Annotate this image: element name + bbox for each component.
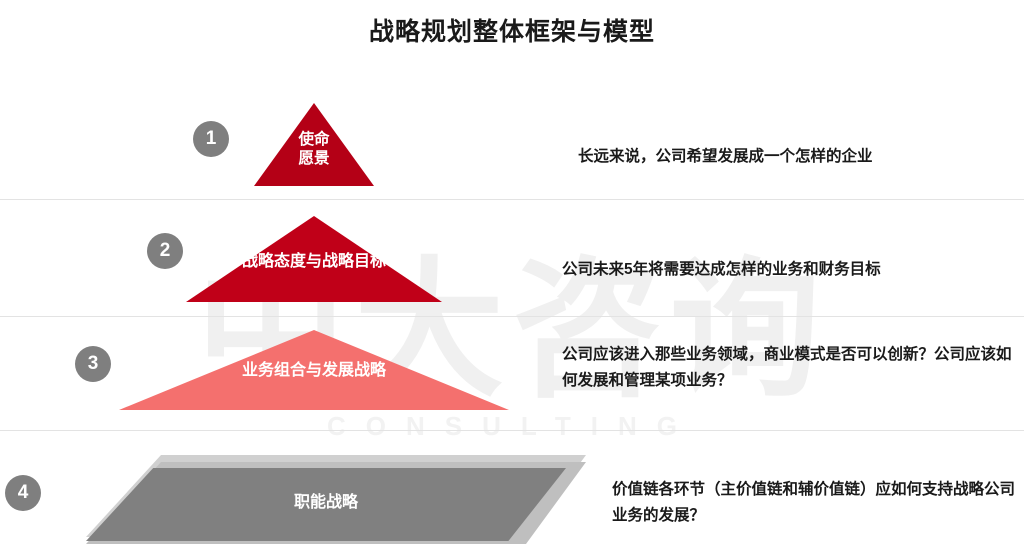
divider-1 bbox=[0, 199, 1024, 200]
level-number-3: 3 bbox=[75, 346, 111, 382]
level-label-4: 职能战略 bbox=[86, 493, 566, 513]
page-title: 战略规划整体框架与模型 bbox=[0, 12, 1024, 48]
level-description-3: 公司应该进入那些业务领域，商业模式是否可以创新？公司应该如何发展和管理某项业务？ bbox=[562, 342, 1017, 395]
level-number-2: 2 bbox=[147, 233, 183, 269]
watermark-sub-text: CONSULTING bbox=[327, 411, 697, 442]
level-label-2: 战略态度与战略目标 bbox=[186, 252, 442, 272]
divider-2 bbox=[0, 316, 1024, 317]
level-number-4: 4 bbox=[5, 475, 41, 511]
level-label-3: 业务组合与发展战略 bbox=[119, 361, 509, 381]
level-description-4: 价值链各环节（主价值链和辅价值链）应如何支持战略公司业务的发展？ bbox=[612, 477, 1022, 530]
level-number-1: 1 bbox=[193, 121, 229, 157]
divider-3 bbox=[0, 430, 1024, 431]
level-label-1: 使命 愿景 bbox=[254, 130, 374, 169]
level-description-1: 长远来说，公司希望发展成一个怎样的企业 bbox=[578, 144, 1018, 170]
level-description-2: 公司未来5年将需要达成怎样的业务和财务目标 bbox=[562, 257, 1022, 283]
